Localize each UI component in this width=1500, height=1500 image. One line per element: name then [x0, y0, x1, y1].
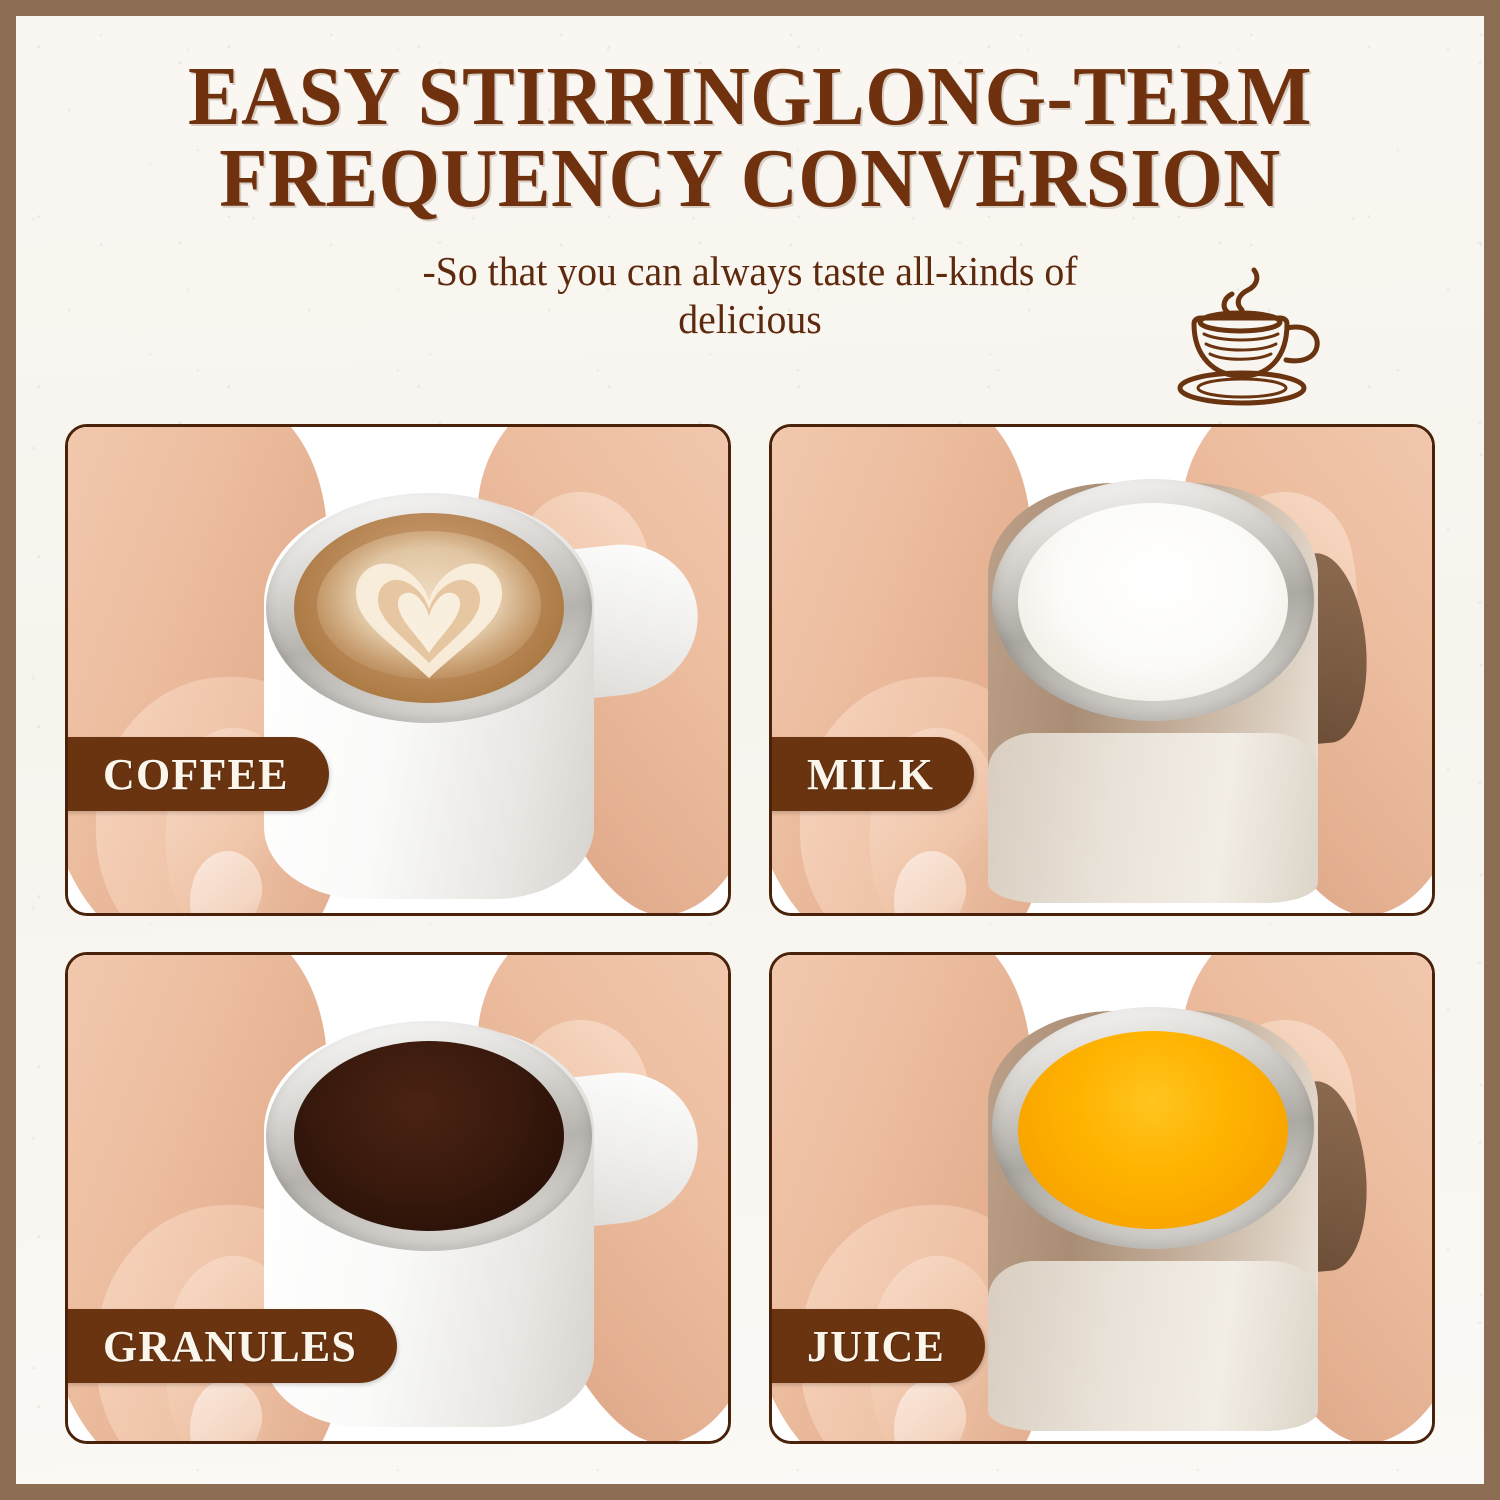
beverage-surface-black-coffee [294, 1041, 564, 1231]
beverage-surface-latte [294, 513, 564, 703]
mug-lower-band [988, 1261, 1318, 1431]
status-badge-milk: MILK [769, 737, 974, 811]
self-stirring-mug [264, 499, 594, 899]
panel-juice[interactable]: JUICE [769, 952, 1435, 1444]
beverage-surface-milk [1018, 503, 1288, 701]
poster-canvas: EASY STIRRINGLONG-TERM FREQUENCY CONVERS… [16, 16, 1484, 1484]
status-badge-granules: GRANULES [65, 1309, 397, 1383]
panel-granules[interactable]: GRANULES [65, 952, 731, 1444]
headline-line-1: EASY STIRRINGLONG-TERM [188, 50, 1312, 143]
panel-milk[interactable]: MILK [769, 424, 1435, 916]
self-stirring-mug [988, 483, 1318, 903]
panel-coffee[interactable]: COFFEE [65, 424, 731, 916]
page-subtitle: -So that you can always taste all-kinds … [381, 247, 1118, 344]
badge-label: GRANULES [103, 1321, 357, 1372]
hands-holding-mug-photo [68, 427, 728, 913]
headline-line-2: FREQUENCY CONVERSION [98, 138, 1403, 220]
badge-label: MILK [807, 749, 934, 800]
status-badge-coffee: COFFEE [65, 737, 329, 811]
hands-holding-mug-photo [772, 427, 1432, 913]
latte-heart-art-icon [294, 513, 564, 703]
beverage-surface-juice [1018, 1031, 1288, 1229]
product-use-case-grid: COFFEE [65, 424, 1435, 1444]
mug-lower-band [988, 733, 1318, 903]
status-badge-juice: JUICE [769, 1309, 985, 1383]
product-poster: EASY STIRRINGLONG-TERM FREQUENCY CONVERS… [0, 0, 1500, 1500]
page-title: EASY STIRRINGLONG-TERM FREQUENCY CONVERS… [98, 56, 1403, 221]
steaming-coffee-cup-icon [1164, 264, 1334, 414]
badge-label: JUICE [807, 1321, 945, 1372]
badge-label: COFFEE [103, 749, 289, 800]
self-stirring-mug [988, 1011, 1318, 1431]
